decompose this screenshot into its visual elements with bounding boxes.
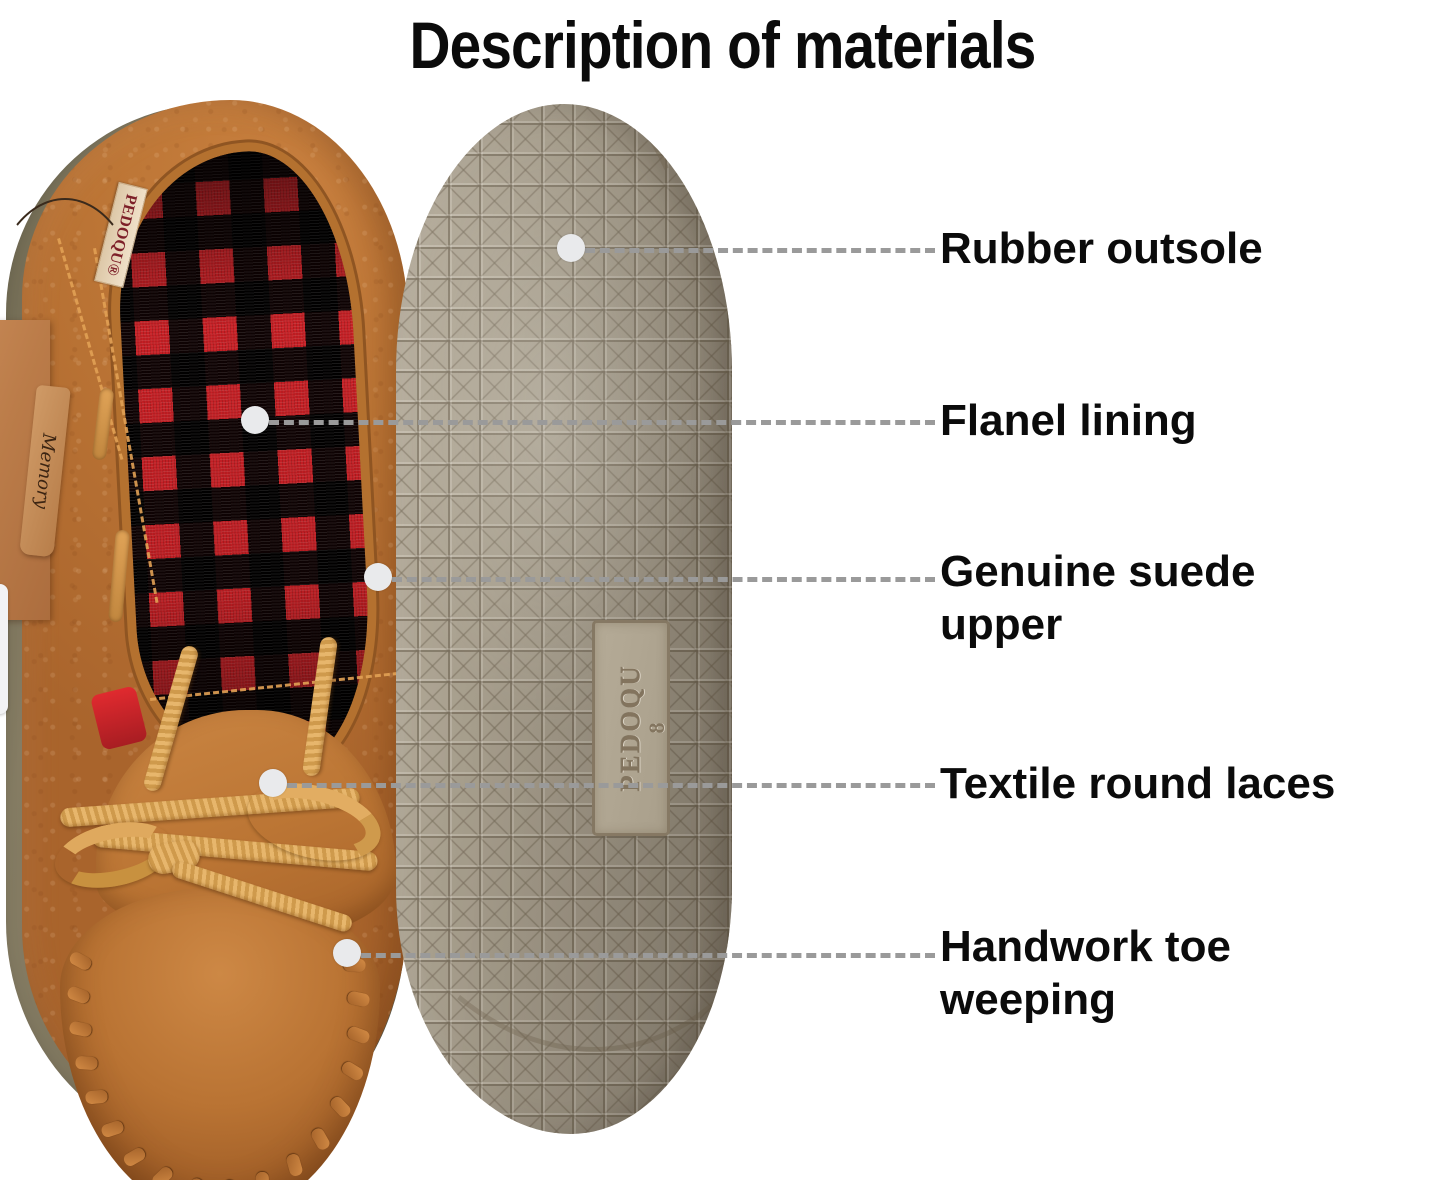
callout-line-textile-round-laces xyxy=(287,783,935,788)
callout-dot-rubber-outsole[interactable] xyxy=(557,234,585,262)
outsole-size-emboss: 8 xyxy=(644,723,670,734)
care-label: Color Transfer may be some transfer when… xyxy=(0,584,8,714)
opening-shadow xyxy=(112,146,376,777)
moccasin-slipper-photo: PEDOQU® Memory Color Transfer may be som… xyxy=(0,98,420,1158)
callout-label-handwork-toe-weeping: Handwork toe weeping xyxy=(940,920,1231,1026)
infographic-canvas: Description of materials xyxy=(0,0,1445,1180)
hang-tag-script: Memory xyxy=(31,432,60,510)
callout-dot-genuine-suede-upper[interactable] xyxy=(364,563,392,591)
callout-dot-textile-round-laces[interactable] xyxy=(259,769,287,797)
care-label-heading: Color Transfer xyxy=(0,592,3,612)
callout-label-rubber-outsole: Rubber outsole xyxy=(940,222,1263,275)
callout-line-rubber-outsole xyxy=(585,248,935,253)
callout-label-genuine-suede-upper: Genuine suede upper xyxy=(940,545,1255,651)
callout-label-flanel-lining: Flanel lining xyxy=(940,394,1197,447)
page-title: Description of materials xyxy=(101,6,1344,84)
callout-dot-flanel-lining[interactable] xyxy=(241,406,269,434)
callout-label-textile-round-laces: Textile round laces xyxy=(940,757,1335,810)
callout-line-genuine-suede-upper xyxy=(392,577,935,582)
care-label-body: may be some transfer when this product p… xyxy=(0,612,5,672)
outsole-brand-emboss: PEDOQU xyxy=(616,664,647,792)
outsole-logo-plaque: PEDOQU 8 xyxy=(592,620,670,836)
callout-dot-handwork-toe-weeping[interactable] xyxy=(333,939,361,967)
callout-line-flanel-lining xyxy=(269,420,935,425)
callout-line-handwork-toe-weeping xyxy=(361,953,935,958)
collar-opening xyxy=(112,146,376,777)
